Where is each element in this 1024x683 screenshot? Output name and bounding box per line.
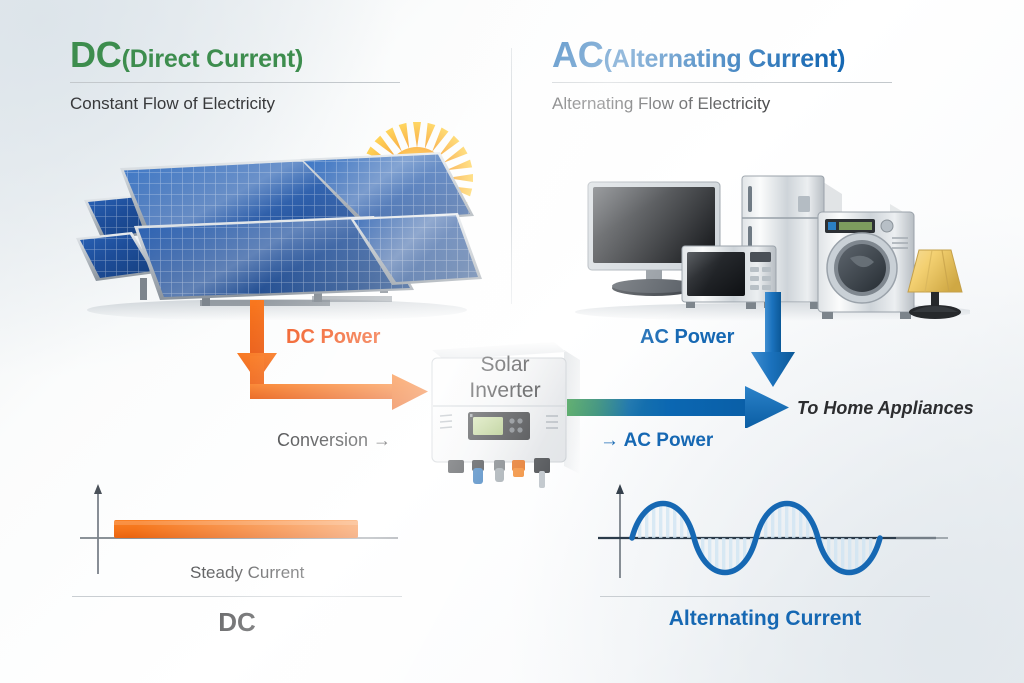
ac-heading-block: AC(Alternating Current) Alternating Flow… — [552, 34, 892, 114]
dc-chart-caption: Steady Current — [190, 563, 304, 583]
to-home-appliances-label: To Home Appliances — [797, 398, 974, 419]
inverter-label: Solar Inverter — [424, 352, 586, 403]
ac-subtitle: Alternating Flow of Electricity — [552, 94, 892, 114]
ac-heading-full: (Alternating Current) — [604, 45, 846, 73]
ac-bottom-rule — [600, 596, 930, 597]
inverter-label-line2: Inverter — [424, 378, 586, 404]
ac-heading: AC(Alternating Current) — [552, 34, 892, 76]
solar-panel-array — [62, 140, 482, 320]
ac-heading-abbr: AC — [552, 34, 604, 75]
dc-heading-rule — [70, 82, 400, 83]
ac-power-right-arrow — [567, 386, 807, 428]
ac-waveform-chart — [596, 482, 956, 592]
dc-power-arrow — [232, 300, 442, 425]
ac-power-label-top: AC Power — [640, 326, 734, 349]
ac-power-down-arrow — [745, 292, 805, 400]
conversion-label: Conversion → — [277, 430, 391, 451]
inverter-label-line1: Solar — [424, 352, 586, 378]
ac-heading-rule — [552, 82, 892, 83]
dc-heading-block: DC(Direct Current) Constant Flow of Elec… — [70, 34, 400, 114]
dc-heading: DC(Direct Current) — [70, 34, 400, 76]
table-lamp-icon — [908, 250, 962, 319]
dc-heading-abbr: DC — [70, 34, 122, 75]
washing-machine-icon — [818, 212, 914, 319]
panel-divider — [511, 48, 512, 304]
infographic-canvas: DC(Direct Current) Constant Flow of Elec… — [0, 0, 1024, 683]
ac-power-label-bottom: → AC Power — [600, 430, 713, 452]
dc-heading-full: (Direct Current) — [122, 45, 304, 73]
dc-power-label: DC Power — [286, 326, 380, 349]
ac-chart-title: Alternating Current — [600, 607, 930, 631]
dc-bottom-rule — [72, 596, 402, 597]
dc-subtitle: Constant Flow of Electricity — [70, 94, 400, 114]
dc-chart-title: DC — [72, 607, 402, 638]
